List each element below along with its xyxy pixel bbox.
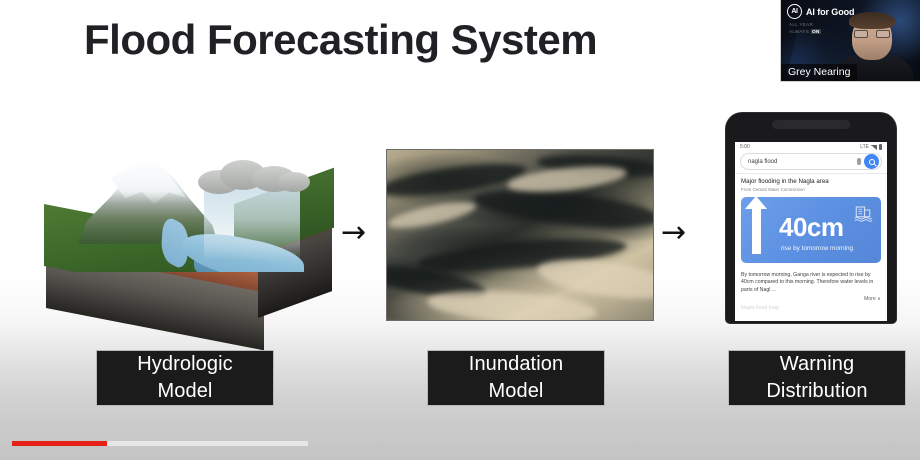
hydrologic-model-illustration [36,160,331,315]
presenter-hair [849,12,895,29]
phone-status-bar: 5:00 LTE [735,142,887,151]
water-rise-value: 40cm [779,214,844,240]
next-result-snippet: Nagla flood map [735,302,887,311]
battery-icon [879,144,882,150]
result-source: From Central Water Commission [735,186,887,192]
presenter-video-overlay[interactable]: AI AI for Good ALL YEARALWAYS ON Grey Ne… [780,0,920,82]
brand-logo: AI AI for Good [787,4,854,19]
video-progress-fill [12,441,107,446]
caption-line-2: Model [158,378,213,405]
phone-speaker-notch [772,120,850,129]
brand-tagline: ALL YEARALWAYS ON [789,22,821,35]
page-title: Flood Forecasting System [84,16,597,64]
flooded-building-icon [853,204,873,222]
caption-line-2: Distribution [766,378,867,405]
result-headline: Major flooding in the Nagla area [735,178,887,186]
caption-line-1: Inundation [469,351,563,378]
caption-line-1: Hydrologic [137,351,232,378]
caption-line-2: Model [489,378,544,405]
rainfall-shape [204,186,300,260]
water-rise-caption: rise by tomorrow morning [781,245,853,252]
brand-name: AI for Good [806,7,854,17]
signal-icon [871,145,877,150]
video-progress-bar[interactable] [12,441,308,446]
divider [735,173,887,174]
flood-alert-card: 40cm rise by tomorrow morning [741,197,881,263]
slide-canvas: Flood Forecasting System [0,0,920,460]
status-time: 5:00 [740,144,750,150]
search-icon [869,159,875,165]
caption-line-1: Warning [780,351,854,378]
arrow-right-icon-1: → [341,218,366,248]
phone-screen: 5:00 LTE nagla flood Major flooding i [735,142,887,321]
presenter-name: Grey Nearing [781,64,857,81]
search-bar[interactable]: nagla flood [740,153,882,170]
cloud-icon [194,158,312,192]
warning-distribution-illustration: 5:00 LTE nagla flood Major flooding i [726,113,896,323]
stage-caption-hydrologic-model: Hydrologic Model [96,350,274,406]
ai-badge-icon: AI [787,4,802,19]
arrow-right-icon-2: → [661,218,686,248]
microphone-icon[interactable] [857,158,861,165]
inundation-model-illustration [386,149,654,321]
arrow-up-icon [752,208,761,254]
search-button[interactable] [864,154,879,169]
phone-frame: 5:00 LTE nagla flood Major flooding i [726,113,896,323]
search-input[interactable]: nagla flood [748,159,854,165]
more-link[interactable]: More ∨ [735,295,887,302]
glasses-icon [854,30,890,38]
status-network: LTE [860,144,869,150]
stage-caption-warning-distribution: Warning Distribution [728,350,906,406]
stage-caption-inundation-model: Inundation Model [427,350,605,406]
result-body: By tomorrow morning, Ganga river is expe… [735,268,887,295]
